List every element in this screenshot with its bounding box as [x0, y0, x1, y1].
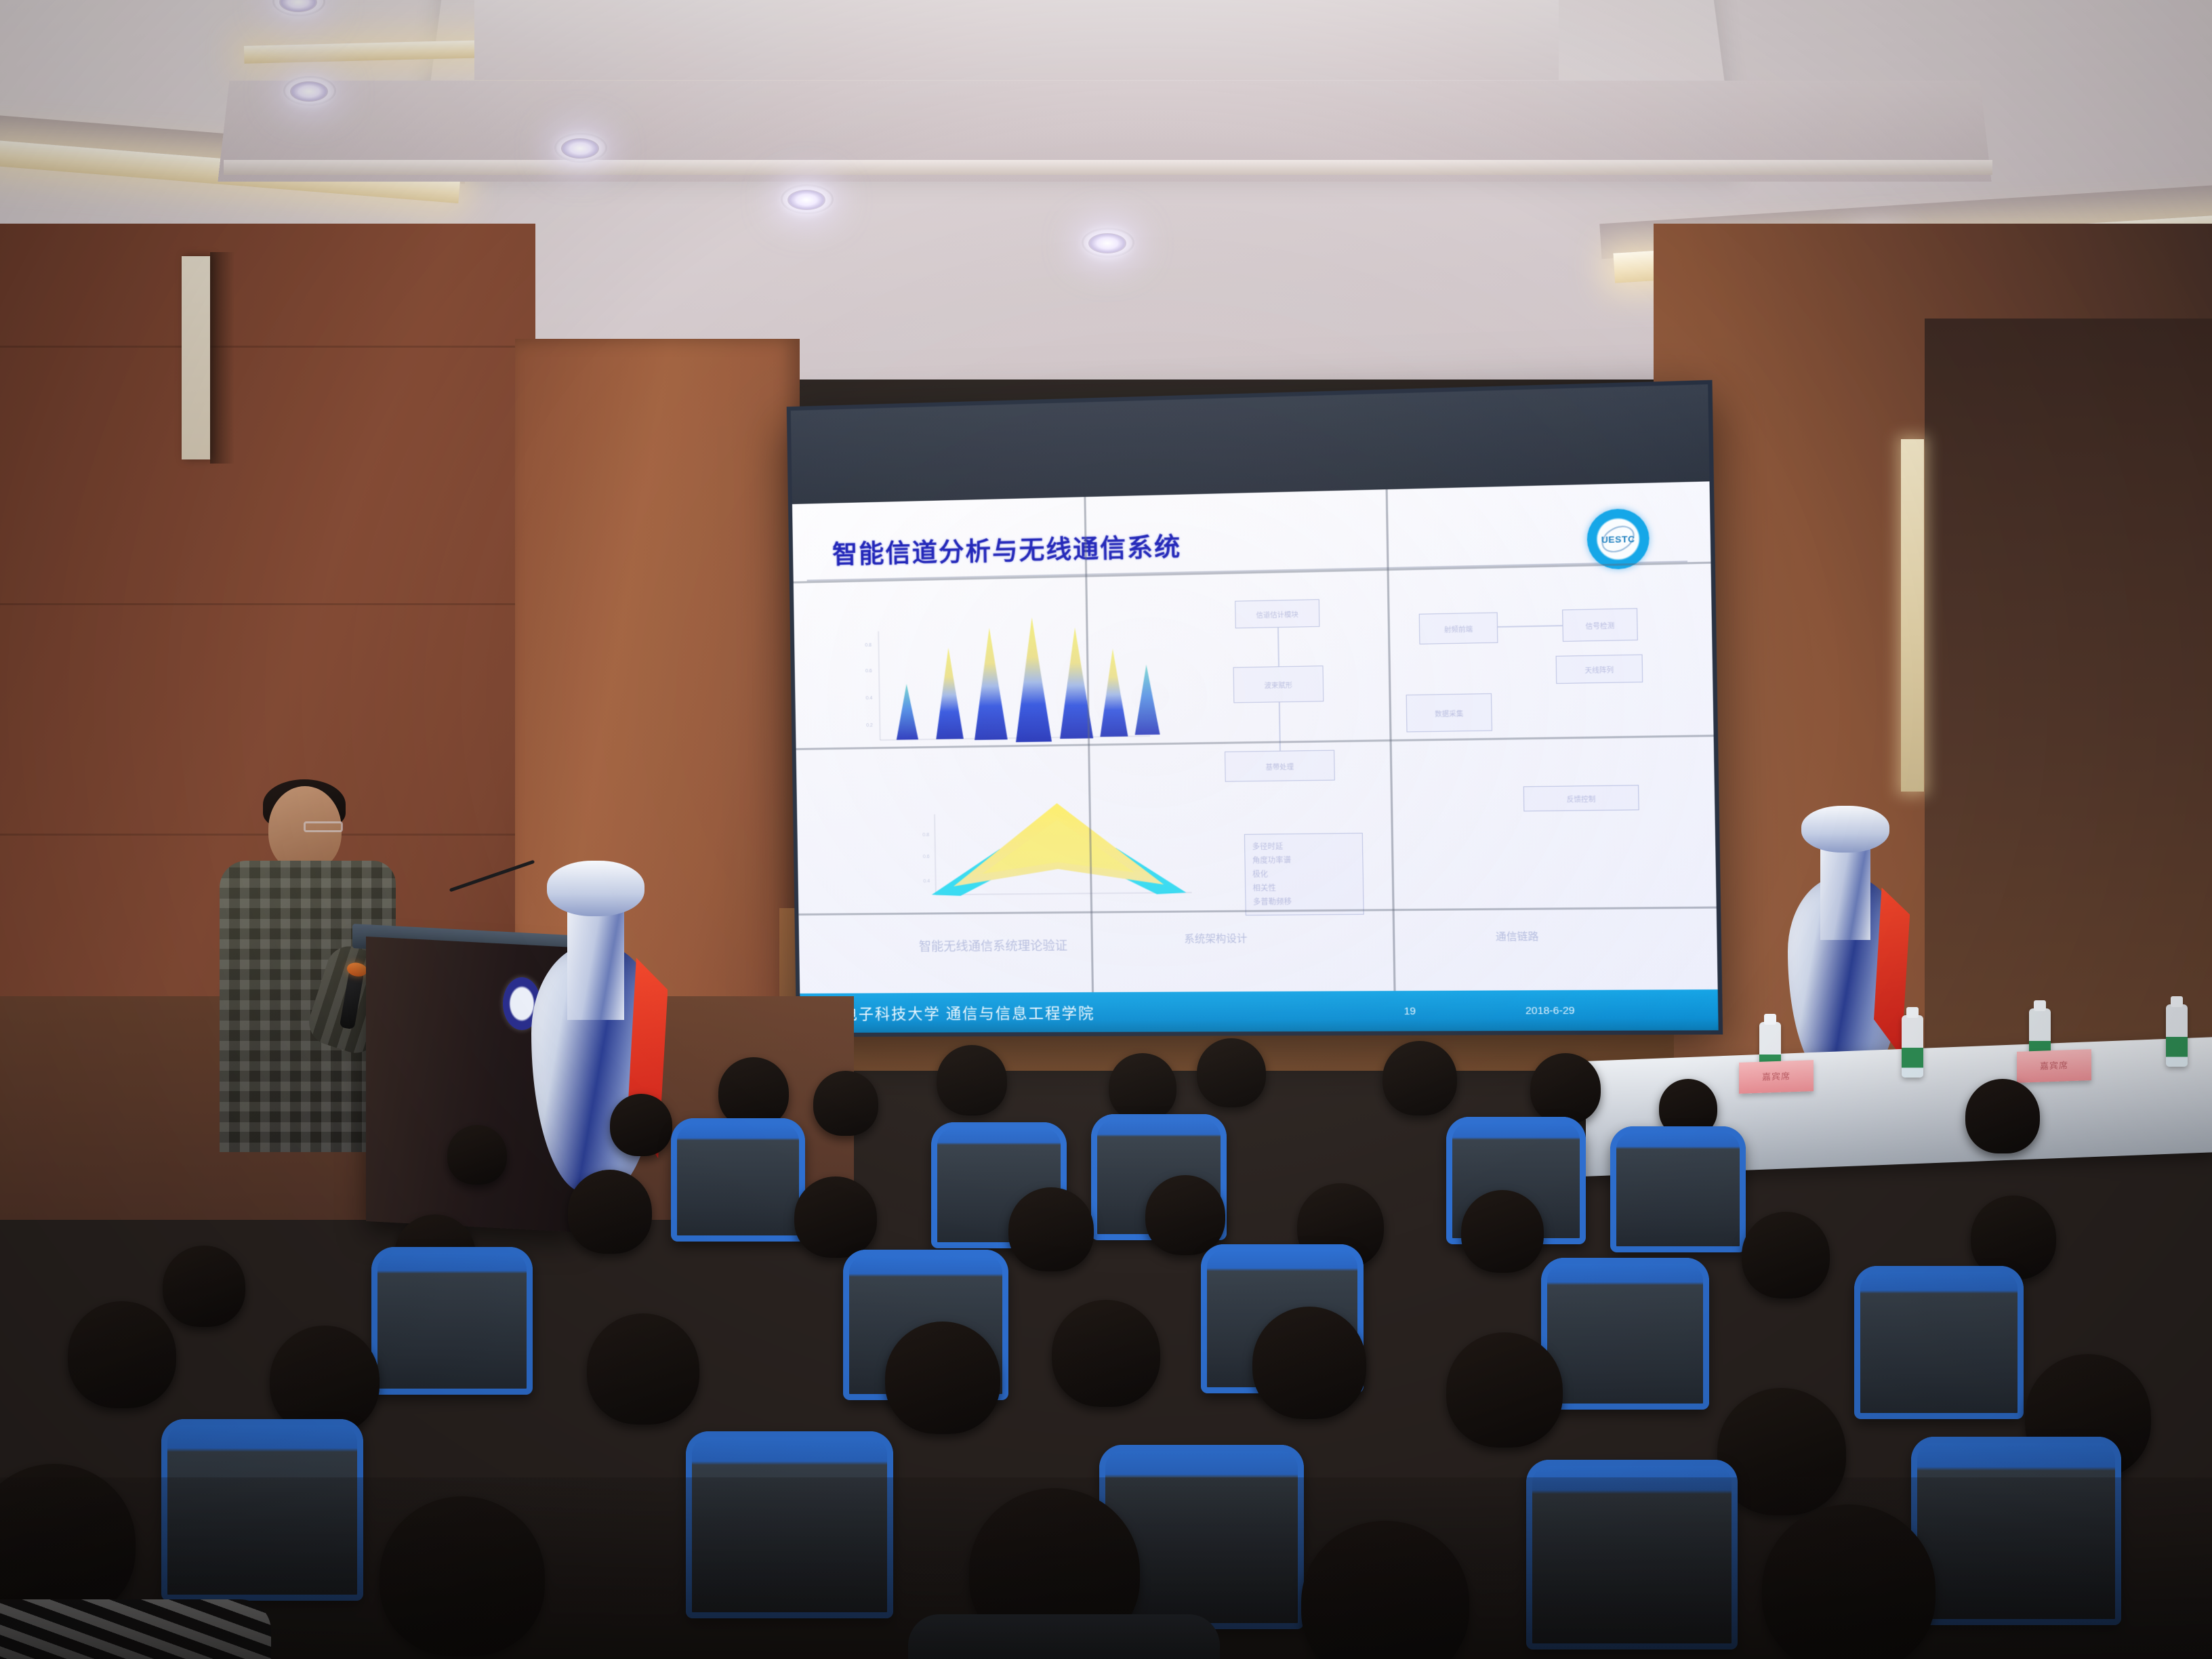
auditorium-chair[interactable] — [671, 1118, 805, 1242]
ceiling-upper-band — [474, 0, 1559, 80]
slide-caption-right-b: 通信链路 — [1496, 928, 1539, 943]
svg-text:0.4: 0.4 — [923, 879, 930, 884]
diagram-connector-1 — [1277, 628, 1279, 666]
auditorium-chair[interactable] — [371, 1247, 533, 1395]
svg-text:0.4: 0.4 — [866, 696, 873, 701]
auditorium-chair[interactable] — [1541, 1258, 1709, 1410]
diagram-block-2: 波束赋形 — [1233, 665, 1324, 703]
diagram-connector-3 — [1498, 625, 1562, 628]
diagram-block-5: 信号检测 — [1562, 608, 1638, 642]
audience-head — [447, 1125, 507, 1185]
audience-head — [1446, 1332, 1563, 1448]
vase-lip — [547, 861, 644, 916]
audience-head — [794, 1176, 877, 1258]
auditorium-chair[interactable] — [1854, 1266, 2024, 1419]
diagram-block-6: 天线阵列 — [1556, 654, 1643, 684]
audience-head — [1530, 1053, 1601, 1124]
audience-head — [1382, 1041, 1457, 1115]
slide-date: 2018-6-29 — [1525, 1004, 1575, 1017]
audience-head — [1965, 1079, 2040, 1153]
wall-accent-strip-right — [1901, 439, 1924, 792]
auditorium-chair[interactable] — [1610, 1126, 1746, 1252]
audience-head — [1008, 1187, 1094, 1271]
audience-head — [1461, 1190, 1544, 1273]
audience-head — [1197, 1038, 1266, 1107]
diagram-block-8: 反馈控制 — [1523, 785, 1639, 811]
diagram-block-1: 信道估计模块 — [1235, 599, 1319, 628]
bullet-item-0: 多径时延 — [1252, 840, 1283, 854]
audience-head — [163, 1246, 245, 1327]
slide-caption-center: 智能无线通信系统理论验证 — [919, 936, 1068, 955]
bullet-item-1: 角度功率谱 — [1252, 854, 1291, 868]
audience-head — [885, 1322, 1000, 1434]
wall-accent-shadow — [210, 252, 234, 464]
bullet-item-2: 极化 — [1252, 867, 1268, 882]
bullet-item-4: 多普勒频移 — [1253, 895, 1292, 909]
ceiling-downlight-1 — [290, 81, 328, 102]
foreground-shadow — [0, 1477, 2212, 1659]
chart-angular-power-spectrum: 0.80.60.4 — [919, 783, 1197, 923]
diagram-block-7: 数据采集 — [1406, 693, 1492, 732]
ceiling-downlight-3 — [787, 190, 825, 210]
svg-text:0.6: 0.6 — [865, 669, 872, 674]
audience-head — [1145, 1175, 1225, 1255]
wall-accent-strip — [182, 256, 210, 459]
audience-head — [610, 1094, 672, 1156]
vase-lip — [1801, 806, 1889, 853]
slide-caption-right-a: 系统架构设计 — [1184, 930, 1247, 945]
audience-head — [937, 1045, 1007, 1115]
diagram-block-3: 基带处理 — [1225, 750, 1335, 782]
audience-head — [1252, 1307, 1366, 1419]
slide-footer-org: 电子科技大学 通信与信息工程学院 — [842, 1001, 1095, 1024]
diagram-block-4: 射频前端 — [1419, 612, 1498, 644]
audience-head — [813, 1071, 878, 1136]
slide-title: 智能信道分析与无线通信系统 — [832, 526, 1182, 571]
slide-bullet-list: 多径时延 角度功率谱 极化 相关性 多普勒频移 — [1244, 833, 1364, 916]
audience-head — [587, 1313, 699, 1425]
presenter-glasses — [304, 821, 343, 832]
audience-head — [1742, 1212, 1830, 1298]
logo-text: UESTC — [1586, 508, 1650, 570]
audience-head — [1052, 1300, 1160, 1407]
svg-text:0.8: 0.8 — [922, 833, 929, 838]
audience-head — [270, 1326, 380, 1434]
svg-text:0.8: 0.8 — [865, 643, 872, 648]
video-wall-frame: 智能信道分析与无线通信系统 UESTC — [787, 380, 1723, 1037]
wall-panel-right-dark — [1925, 319, 2212, 1064]
slide-page-number: 19 — [1404, 1005, 1416, 1017]
video-wall-display[interactable]: 智能信道分析与无线通信系统 UESTC — [787, 380, 1723, 1037]
presentation-slide: 智能信道分析与无线通信系统 UESTC — [792, 481, 1719, 1033]
uestc-logo-icon: UESTC — [1586, 508, 1650, 570]
ceiling-downlight-4 — [1088, 233, 1126, 253]
diagram-connector-2 — [1279, 702, 1281, 750]
ceiling-bulkhead-edge — [224, 160, 1992, 175]
svg-text:0.6: 0.6 — [923, 855, 930, 859]
ceiling-downlight-2 — [561, 138, 599, 159]
audience-head — [568, 1170, 652, 1254]
audience-head — [718, 1057, 789, 1128]
lecture-hall-scene: 智能信道分析与无线通信系统 UESTC — [0, 0, 2212, 1659]
audience-head — [68, 1301, 176, 1408]
svg-text:0.2: 0.2 — [866, 723, 873, 728]
bullet-item-3: 相关性 — [1252, 882, 1276, 896]
slide-footer-band: 电子科技大学 通信与信息工程学院 19 2018-6-29 — [800, 989, 1718, 1033]
audience-head — [1109, 1053, 1176, 1121]
